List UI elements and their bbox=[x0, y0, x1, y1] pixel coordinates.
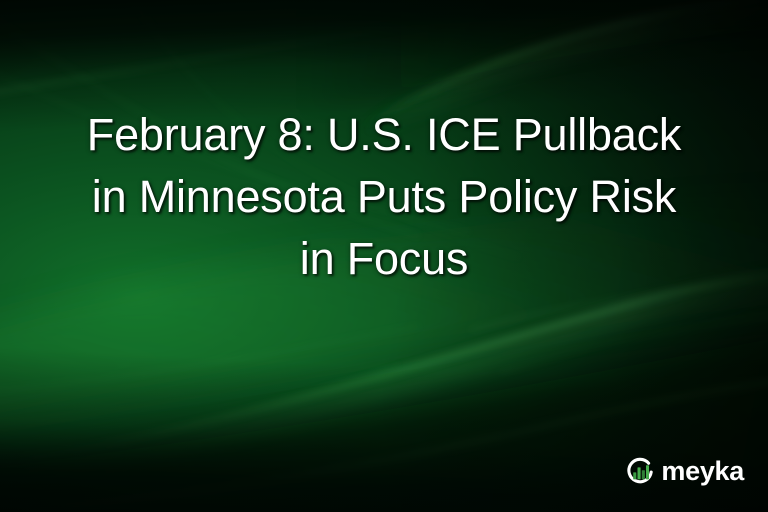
brand-name-text: meyka bbox=[661, 458, 744, 486]
headline-container: February 8: U.S. ICE Pullback in Minneso… bbox=[0, 104, 768, 290]
meyka-bar-chart-circle-icon bbox=[624, 456, 656, 488]
headline-text: February 8: U.S. ICE Pullback in Minneso… bbox=[34, 104, 734, 290]
brand-logo[interactable]: meyka bbox=[624, 456, 744, 488]
news-headline-card: February 8: U.S. ICE Pullback in Minneso… bbox=[0, 0, 768, 512]
